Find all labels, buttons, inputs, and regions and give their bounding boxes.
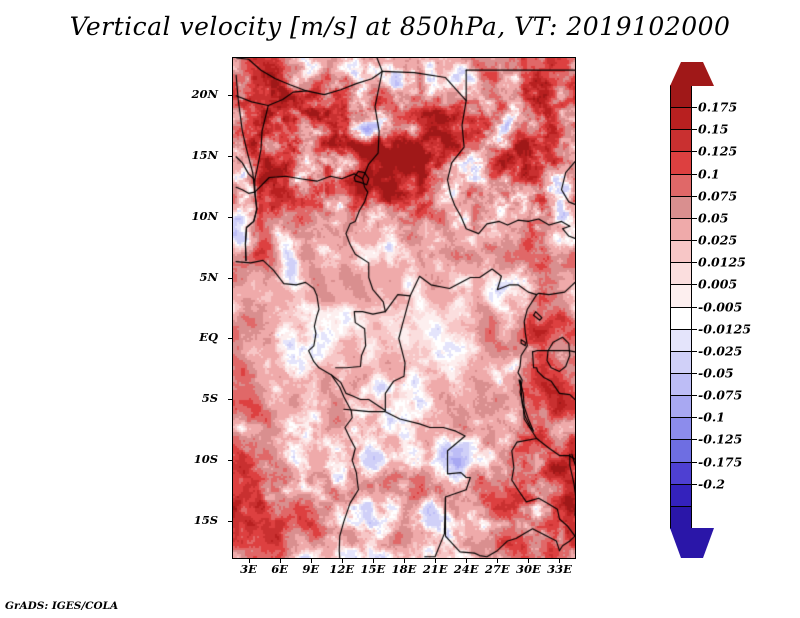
colorbar-tick-mark [692,307,697,308]
colorbar-tick-mark [692,262,697,263]
x-axis-tick-label: 9E [302,562,319,576]
colorbar-tick-mark [692,284,697,285]
x-axis-tick-label: 30E [516,562,541,576]
colorbar-segment[interactable] [670,151,692,174]
x-axis-tick-label: 33E [547,562,572,576]
x-axis-tick-mark [497,558,498,563]
colorbar-segment[interactable] [670,417,692,440]
colorbar-segment[interactable] [670,307,692,330]
colorbar-tick-mark [692,462,697,463]
y-axis-tick-label: 5N [199,270,218,284]
colorbar-segment[interactable] [670,351,692,374]
x-axis-tick-label: 12E [329,562,354,576]
y-axis-tick-label: 15S [194,513,218,527]
colorbar-tick-label: -0.175 [698,454,742,469]
x-axis-tick-label: 27E [485,562,510,576]
colorbar-tick-label: 0.1 [698,166,720,181]
colorbar-tick-mark [692,484,697,485]
colorbar-arrow-min [670,528,714,558]
x-axis-tick-label: 15E [361,562,386,576]
colorbar-tick-label: -0.025 [698,343,742,358]
y-axis-tick-label: 10N [191,209,218,223]
x-axis-tick-mark [404,558,405,563]
y-axis-tick-mark [228,156,233,157]
colorbar-tick-mark [692,351,697,352]
x-axis-tick-mark [311,558,312,563]
colorbar-tick-label: 0.0125 [698,255,746,270]
colorbar-segment[interactable] [670,218,692,241]
colorbar-segment[interactable] [670,506,692,529]
page-title: Vertical velocity [m/s] at 850hPa, VT: 2… [0,12,800,41]
colorbar-segment[interactable] [670,439,692,462]
colorbar-segment[interactable] [670,484,692,507]
colorbar-segment[interactable] [670,284,692,307]
colorbar-tick-label: -0.125 [698,432,742,447]
y-axis-tick-label: 15N [191,148,218,162]
y-axis-tick-mark [228,460,233,461]
x-axis-tick-label: 3E [240,562,257,576]
x-axis-tick-label: 18E [392,562,417,576]
colorbar-arrow-max [670,62,714,86]
x-axis-tick-mark [559,558,560,563]
y-axis-tick-label: EQ [199,330,218,344]
colorbar-tick-label: 0.175 [698,100,737,115]
colorbar-segment[interactable] [670,240,692,263]
colorbar-tick-label: 0.15 [698,122,728,137]
colorbar-tick-label: 0.025 [698,233,737,248]
colorbar-segment[interactable] [670,129,692,152]
y-axis-tick-mark [228,338,233,339]
footer-credit: GrADS: IGES/COLA [5,600,118,612]
y-axis-tick-mark [228,217,233,218]
y-axis-tick-mark [228,278,233,279]
colorbar-tick-mark [692,417,697,418]
colorbar-segment[interactable] [670,107,692,130]
y-axis-tick-mark [228,399,233,400]
colorbar-tick-label: -0.005 [698,299,742,314]
colorbar[interactable] [670,85,692,528]
x-axis-tick-mark [466,558,467,563]
x-axis-tick-label: 24E [454,562,479,576]
colorbar-tick-mark [692,329,697,330]
x-axis-tick-mark [342,558,343,563]
colorbar-segment[interactable] [670,174,692,197]
x-axis-tick-mark [528,558,529,563]
colorbar-tick-label: -0.2 [698,476,725,491]
x-axis-tick-label: 6E [271,562,288,576]
colorbar-tick-label: 0.075 [698,188,737,203]
x-axis-tick-label: 21E [423,562,448,576]
colorbar-segment[interactable] [670,462,692,485]
colorbar-segment[interactable] [670,85,692,108]
colorbar-tick-label: 0.05 [698,210,728,225]
colorbar-tick-mark [692,107,697,108]
y-axis-tick-mark [228,95,233,96]
y-axis-tick-label: 5S [202,391,218,405]
colorbar-tick-label: 0.125 [698,144,737,159]
vertical-velocity-heatmap [233,58,575,558]
colorbar-tick-label: -0.075 [698,388,742,403]
y-axis-tick-label: 20N [191,87,218,101]
colorbar-tick-label: -0.0125 [698,321,751,336]
colorbar-segment[interactable] [670,329,692,352]
colorbar-segment[interactable] [670,262,692,285]
colorbar-tick-label: 0.005 [698,277,737,292]
x-axis-tick-mark [435,558,436,563]
x-axis-tick-mark [373,558,374,563]
colorbar-tick-mark [692,240,697,241]
colorbar-tick-mark [692,439,697,440]
colorbar-tick-label: -0.1 [698,410,725,425]
x-axis-tick-mark [280,558,281,563]
colorbar-segment[interactable] [670,395,692,418]
colorbar-tick-mark [692,218,697,219]
colorbar-tick-mark [692,151,697,152]
colorbar-tick-mark [692,395,697,396]
colorbar-tick-mark [692,196,697,197]
y-axis-tick-label: 10S [194,452,218,466]
colorbar-segment[interactable] [670,373,692,396]
colorbar-tick-mark [692,129,697,130]
colorbar-segment[interactable] [670,196,692,219]
map-plot-area[interactable] [233,58,575,558]
colorbar-tick-label: -0.05 [698,365,734,380]
y-axis-tick-mark [228,521,233,522]
colorbar-tick-mark [692,174,697,175]
colorbar-tick-mark [692,373,697,374]
x-axis-tick-mark [249,558,250,563]
